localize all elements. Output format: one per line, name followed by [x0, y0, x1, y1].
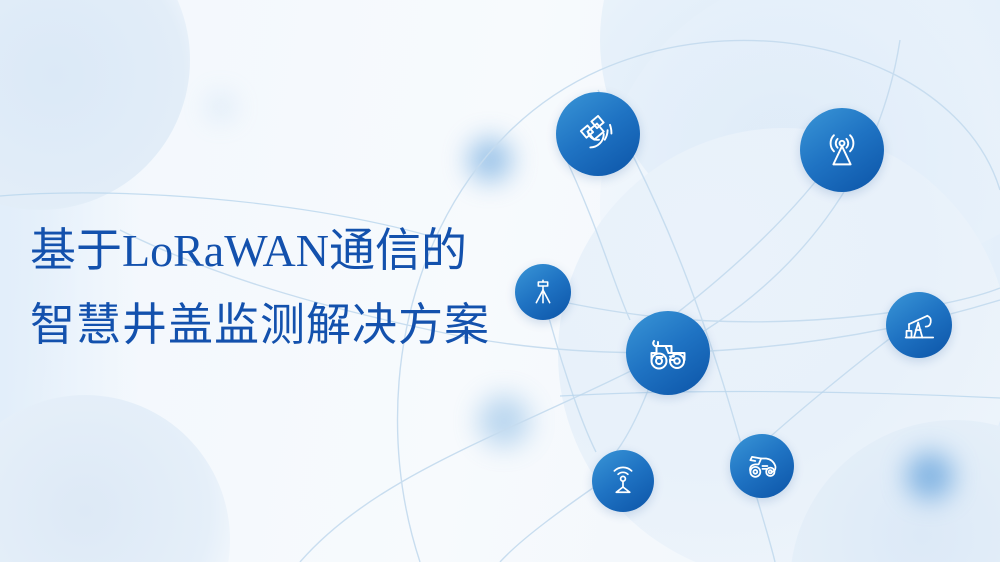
survey-tripod-icon — [527, 276, 559, 308]
node-harvester[interactable] — [730, 434, 794, 498]
radio-tower-icon — [819, 127, 865, 173]
wifi-antenna-icon — [605, 463, 641, 499]
node-tractor[interactable] — [626, 311, 710, 395]
oil-pumpjack-icon — [899, 305, 939, 345]
node-satellite-dish[interactable] — [556, 92, 640, 176]
harvester-icon — [742, 446, 782, 486]
node-survey-tripod[interactable] — [515, 264, 571, 320]
node-oil-pumpjack[interactable] — [886, 292, 952, 358]
title-block: 基于LoRaWAN通信的 智慧井盖监测解决方案 — [30, 228, 490, 347]
title-line-primary: 基于LoRaWAN通信的 — [30, 228, 490, 274]
node-wifi-antenna[interactable] — [592, 450, 654, 512]
node-radio-tower[interactable] — [800, 108, 884, 192]
title-line-secondary: 智慧井盖监测解决方案 — [30, 302, 490, 347]
satellite-dish-icon — [575, 111, 621, 157]
tractor-icon — [644, 329, 692, 377]
presentation-slide: 基于LoRaWAN通信的 智慧井盖监测解决方案 — [0, 0, 1000, 562]
